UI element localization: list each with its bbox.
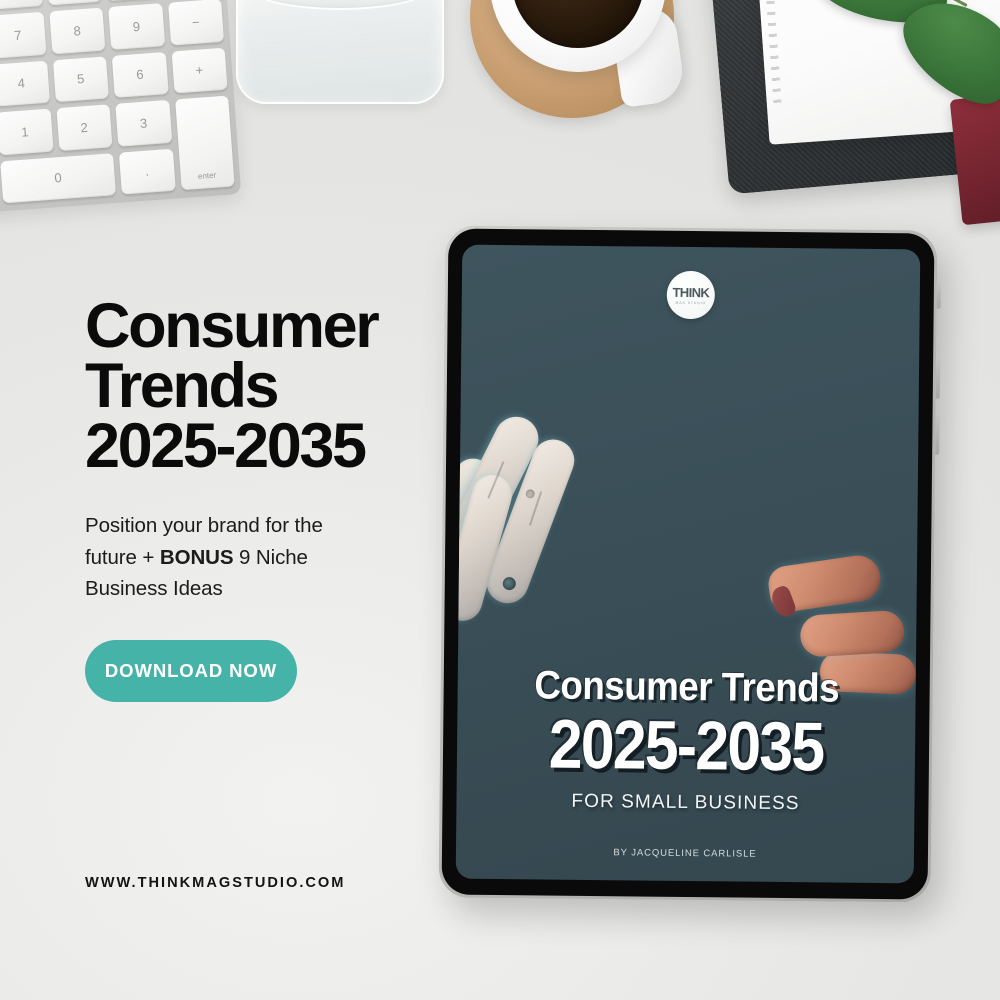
human-index-finger (766, 552, 884, 614)
fingernail (768, 584, 797, 619)
cover-subtitle: FOR SMALL BUSINESS (474, 790, 896, 816)
poster-canvas: clear = / * 7 8 9 − 4 5 6 + 1 2 3 enter … (0, 0, 1000, 1000)
tablet-bezel: THINK MAG STUDIO (442, 228, 935, 899)
key-period: . (119, 148, 175, 194)
key-3: 3 (115, 100, 171, 146)
glass-jar (236, 0, 444, 104)
robot-knuckle-screw (526, 489, 535, 498)
cover-author-byline: BY JACQUELINE CARLISLE (474, 846, 896, 861)
logo-tagline: MAG STUDIO (675, 300, 706, 304)
key-7: 7 (0, 12, 46, 58)
key-minus: − (168, 0, 224, 45)
key-enter: enter (175, 96, 235, 190)
robot-hand-illustration (456, 445, 665, 637)
page-title: Consumer Trends 2025-2035 (85, 296, 445, 476)
keyboard-numpad: clear = / * 7 8 9 − 4 5 6 + 1 2 3 enter … (0, 0, 241, 213)
key-4: 4 (0, 61, 50, 107)
human-finger (799, 610, 905, 658)
tablet-volume-down-button[interactable] (935, 415, 939, 455)
cover-years: 2025-2035 (500, 709, 872, 782)
pencil-jar (236, 0, 444, 104)
key-6: 6 (112, 52, 168, 98)
cover-title: Consumer Trends (492, 665, 881, 709)
tablet-screen[interactable]: THINK MAG STUDIO (456, 245, 921, 884)
key-divide: / (105, 0, 161, 1)
ebook-cover-text: Consumer Trends 2025-2035 FOR SMALL BUSI… (456, 665, 916, 862)
key-0: 0 (0, 153, 116, 204)
key-plus: + (171, 47, 227, 93)
keyboard-key-grid: clear = / * 7 8 9 − 4 5 6 + 1 2 3 enter … (0, 0, 235, 203)
subhead-bonus-emphasis: BONUS (160, 546, 234, 569)
coffee-liquid (512, 0, 644, 48)
download-now-button[interactable]: DOWNLOAD NOW (85, 640, 297, 702)
robot-knuckle-screw (503, 577, 516, 590)
burgundy-notebook (950, 93, 1000, 226)
promo-subheadline: Position your brand for the future + BON… (85, 510, 375, 603)
key-clear: clear (0, 0, 42, 10)
key-2: 2 (56, 104, 112, 150)
key-8: 8 (49, 8, 105, 54)
tablet-volume-up-button[interactable] (936, 359, 940, 399)
key-9: 9 (108, 4, 164, 50)
website-url[interactable]: WWW.THINKMAGSTUDIO.COM (85, 875, 345, 891)
key-equals: = (45, 0, 101, 6)
promo-copy-block: Consumer Trends 2025-2035 Position your … (85, 296, 445, 702)
tablet-power-button[interactable] (937, 283, 941, 309)
logo-wordmark: THINK (672, 285, 709, 298)
key-5: 5 (52, 56, 108, 102)
think-logo-badge: THINK MAG STUDIO (667, 271, 716, 320)
tablet-device: THINK MAG STUDIO (438, 225, 937, 902)
key-1: 1 (0, 109, 53, 155)
desk-scene: clear = / * 7 8 9 − 4 5 6 + 1 2 3 enter … (0, 0, 1000, 230)
